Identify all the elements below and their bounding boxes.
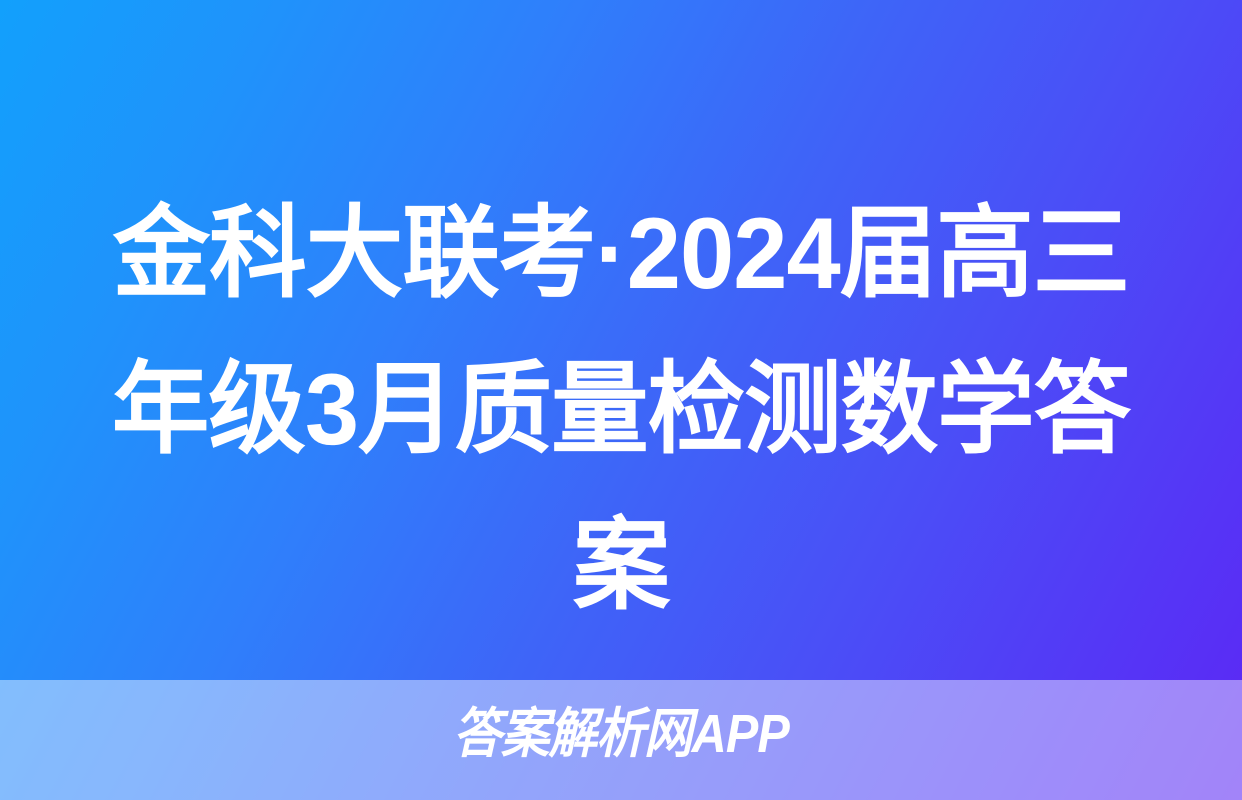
- watermark-label: 答案解析网APP: [62, 704, 1180, 764]
- headline-block: 金科大联考·2024届高三年级3月质量检测数学答案: [0, 176, 1242, 644]
- poster-canvas: 金科大联考·2024届高三年级3月质量检测数学答案 答案解析网APP: [0, 0, 1242, 800]
- page-title: 金科大联考·2024届高三年级3月质量检测数学答案: [89, 176, 1152, 644]
